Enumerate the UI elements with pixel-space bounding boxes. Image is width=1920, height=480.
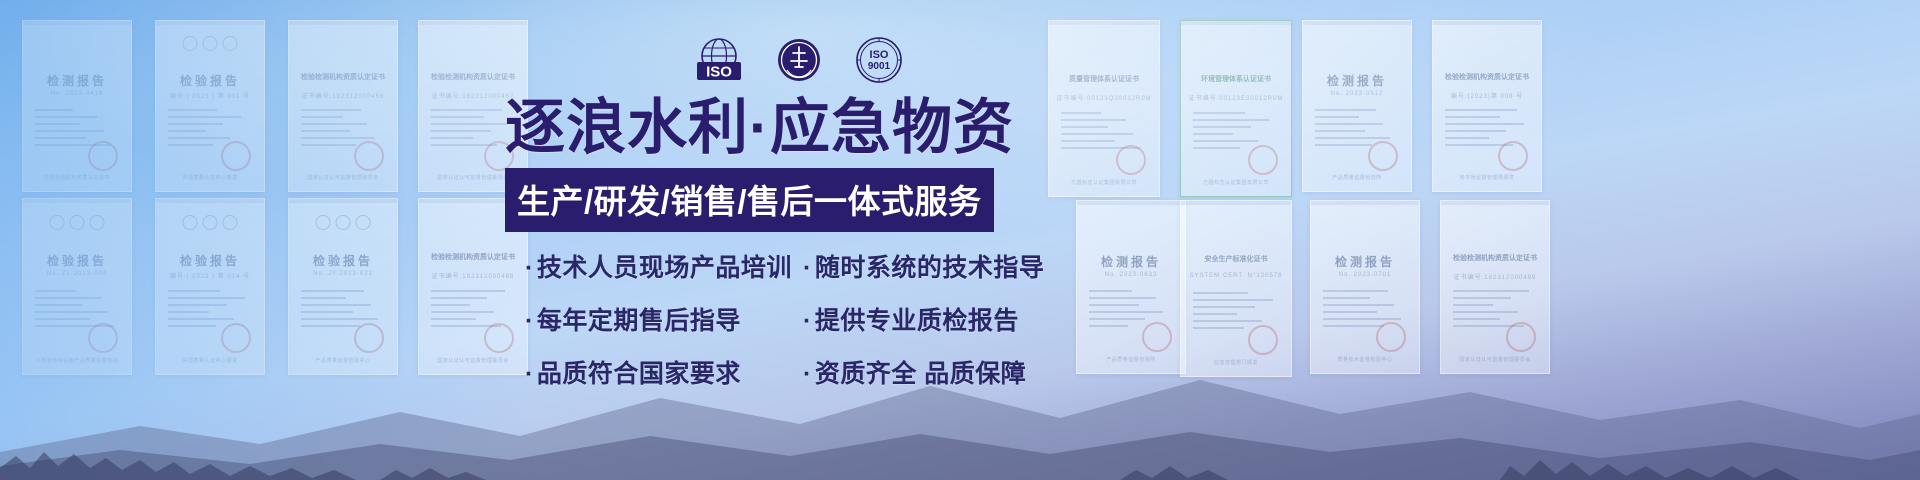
certificate-text-line [168,144,213,146]
certificate-text-line [301,123,368,125]
certificate-title: 检验检测机构资质认定证书 [419,72,527,82]
certificate-title: 检测报告 [1303,72,1411,89]
blue-mark-icon [203,36,218,51]
certificate-text-line [35,290,76,292]
certificate-text-line [1193,292,1248,294]
certificate-logo-row [183,36,238,51]
certificate-text-line [1089,325,1128,327]
feature-item: · 提供专业质检报告 [803,301,1065,337]
certificate-text-line [1445,123,1524,125]
certificate-text-line [301,144,357,146]
certificate-text-line [1453,318,1500,320]
certificate-text-line [1193,313,1237,315]
certificate-text-line [1089,290,1132,292]
feature-label: 资质齐全 品质保障 [815,354,1026,390]
certificate-top-band [23,199,131,203]
certificate-number: 证书编号:182312000499 [1441,272,1549,281]
certificate-top-band [1303,21,1411,25]
iso-badge: ISO [693,34,745,86]
feature-item: · 每年定期售后指导 [525,301,803,337]
svg-text:ISO: ISO [870,49,889,61]
certificate-number: 编号:(2023)第 008 号 [1433,91,1541,100]
certificate-top-band [1049,21,1159,25]
certificate-text-line [431,109,502,111]
certificate-text-line [1315,116,1359,118]
certificate-issuer: 方圆标志认证集团有限公司 [1181,179,1291,186]
certificate-title: 检验报告 [156,72,264,89]
certificate-card: 检验检测机构资质认定证书证书编号:182312000456国家认证认可监督管理委… [288,20,398,192]
certificate-text-line [1193,133,1233,135]
certificate-logo-row [316,215,371,230]
certificate-top-band [1441,201,1549,205]
certificate-top-band [289,199,397,203]
certificate-text-line [1315,123,1383,125]
certificate-title: 环境管理体系认证证书 [1181,74,1291,84]
headline-block: 逐浪水利·应急物资 生产/研发/销售/售后一体式服务 [505,96,1075,232]
certificate-seal-icon [1368,141,1398,171]
certificate-text-line [301,304,371,306]
certificate-text-line [1193,320,1262,322]
certificate-issuer: 省市场监督管理局颁发 [1433,174,1541,181]
bullet-dot: · [525,309,534,334]
certificate-text-line [1453,311,1518,313]
certificate-text-line [1193,126,1251,128]
certificate-number: 编号:( 2023 ) 第 014 号 [156,271,264,280]
certificate-seal-icon [221,141,251,171]
certificate-text-line [168,304,227,306]
feature-label: 随时系统的技术指导 [815,248,1045,284]
certificate-text-line [1445,130,1507,132]
certificate-text-line [431,311,494,313]
certificate-seal-icon [1116,145,1146,175]
certificate-text-line [301,318,378,320]
certificate-top-band [1311,201,1419,205]
certificate-number: No. 2023-0633 [1077,272,1185,278]
certificate-seal-icon [88,141,118,171]
certificate-text-line [168,137,230,139]
certificate-title: 质量管理体系认证证书 [1049,74,1159,84]
certificate-text-line [431,123,509,125]
feature-label: 品质符合国家要求 [537,354,741,390]
certificate-top-band [1077,201,1185,205]
certificate-top-band [1433,21,1541,25]
certificate-text-line [168,311,209,313]
certificate-text-line [1323,318,1401,320]
certificate-number: No. ZL-2023-009 [23,271,131,277]
certificate-text-line [1323,304,1395,306]
certificate-text-line [168,123,224,125]
certificate-card: 检测报告No. 2023-0512产品质量监督检验所 [1302,20,1412,192]
quality-badge [773,34,825,86]
certificate-number: SYSTEM CERT. N°120578 [1181,273,1291,279]
certificate-text-line [1193,147,1240,149]
certificate-seal-icon [1498,141,1528,171]
green-mark-icon [90,215,105,230]
certificate-text-line [168,318,234,320]
certificate-text-line [431,116,484,118]
certificate-text-line [35,318,90,320]
subtitle-text: 生产/研发/销售/售后一体式服务 [517,183,982,220]
certificate-issuer: 产品质量监督检验所 [1303,174,1411,181]
certificate-text-line [301,116,343,118]
certificate-text-line [168,297,245,299]
certificate-card: 检测报告No. 2023-0418检验检测机构资质认定证书 [22,20,132,192]
certificate-text-line [301,297,346,299]
certificate-text-line [35,304,83,306]
certificate-text-line [1089,304,1139,306]
certificate-text-line [431,290,505,292]
svg-text:9001: 9001 [868,61,891,72]
feature-item: · 随时系统的技术指导 [803,248,1065,284]
feature-item: · 品质符合国家要求 [525,354,803,390]
certificate-text-line [301,130,350,132]
bullet-dot: · [525,256,534,281]
certificate-text-line [1089,311,1163,313]
bullet-dot: · [525,362,534,387]
certificate-text-line [1193,119,1269,121]
certificate-number: 证书编号:00123E30012R0M [1181,93,1291,102]
certificate-title: 检测报告 [23,72,131,89]
certificate-text-line [168,325,216,327]
certificate-title: 检验检测机构资质认定证书 [1441,253,1549,263]
certificate-text-line [1453,290,1529,292]
certificate-text-line [35,311,107,313]
certificate-text-line [1445,137,1489,139]
certificate-title: 安全生产标准化证书 [1181,254,1291,264]
certificate-top-band [23,21,131,25]
blue-mark-icon [203,215,218,230]
certificate-text-line [1193,299,1273,301]
certificate-issuer: 检验检测机构资质认定证书 [23,174,131,181]
certificate-number: No. 2023-0701 [1311,272,1419,278]
certificate-card: 检验检测机构资质认定证书编号:(2023)第 008 号省市场监督管理局颁发 [1432,20,1542,192]
certificate-text-line [35,297,101,299]
certificate-text-line [431,130,491,132]
certificate-title: 检测报告 [1077,253,1185,270]
certificate-text-line [1315,130,1366,132]
feature-item: · 资质齐全 品质保障 [803,354,1065,390]
certificate-text-line [1453,304,1493,306]
certificate-text-line [1193,140,1258,142]
certificate-title: 检验检测机构资质认定证书 [1433,72,1541,82]
certificate-number: 编号:( 2023 ) 第 001 号 [156,91,264,100]
green-mark-icon [223,36,238,51]
feature-label: 提供专业质检报告 [815,301,1019,337]
certificate-logo-row [50,215,105,230]
certificate-text-line [1445,109,1517,111]
certificate-text-line [1193,327,1244,329]
certificate-text-line [1323,297,1370,299]
certificate-text-line [168,290,220,292]
certificate-text-line [301,137,374,139]
certificate-text-line [431,304,470,306]
certificate-text-line [168,130,206,132]
certificate-issuer: 国家认证认可监督管理委员会 [289,174,397,181]
certificate-top-band [1181,201,1291,205]
certification-badges: ISO ISO 9001 [693,34,905,86]
certificate-text-line [431,318,476,320]
svg-text:ISO: ISO [706,64,732,81]
certificate-text-line [1193,112,1244,114]
certificate-text-line [35,130,104,132]
certificate-title: 检验报告 [156,252,264,269]
certificate-top-band [419,21,527,25]
certificate-number: No. 2023-0418 [23,91,131,97]
certificate-card: 环境管理体系认证证书证书编号:00123E30012R0M方圆标志认证集团有限公… [1180,20,1292,197]
certificate-text-line [35,116,97,118]
green-mark-icon [223,215,238,230]
bullet-dot: · [803,256,812,281]
certificate-card: 检验报告编号:( 2023 ) 第 001 号中国质量认证中心颁发 [155,20,265,192]
certificate-text-line [431,297,487,299]
certificate-number: No. JY-2023-021 [289,271,397,277]
certificate-text-line [1315,109,1377,111]
certificate-text-line [301,109,361,111]
promotional-banner: 检测报告No. 2023-0418检验检测机构资质认定证书检验报告编号:( 20… [0,0,1920,480]
certificate-top-band [1181,21,1291,25]
certificate-text-line [1323,325,1384,327]
certificate-text-line [1323,311,1377,313]
iso9001-badge: ISO 9001 [853,34,905,86]
certificate-seal-icon [1248,145,1278,175]
certificate-text-line [301,325,360,327]
feature-list: · 技术人员现场产品培训 · 随时系统的技术指导 · 每年定期售后指导 · 提供… [525,248,1065,390]
certificate-number: 证书编号:182312000456 [289,91,397,100]
certificate-number: 证书编号:182312000488 [419,271,527,280]
certificate-text-line [1445,116,1500,118]
certificate-text-line [1323,290,1388,292]
certificate-text-line [1089,297,1156,299]
ccc-mark-icon [50,215,65,230]
ccc-mark-icon [183,36,198,51]
certificate-top-band [156,199,264,203]
bullet-dot: · [803,309,812,334]
certificate-text-line [431,137,473,139]
green-mark-icon [356,215,371,230]
feature-item: · 技术人员现场产品培训 [525,248,803,284]
certificate-text-line [1089,318,1145,320]
certificate-text-line [35,109,73,111]
certificate-logo-row [183,215,238,230]
ccc-mark-icon [316,215,331,230]
certificate-number: No. 2023-0512 [1303,91,1411,97]
certificate-text-line [35,123,80,125]
certificate-text-line [301,290,364,292]
certificate-text-line [168,109,217,111]
certificate-text-line [1453,297,1511,299]
certificate-title: 检测报告 [1311,253,1419,270]
certificate-seal-icon [354,141,384,171]
certificate-title: 检验报告 [23,252,131,269]
certificate-text-line [35,137,86,139]
certificate-top-band [289,21,397,25]
certificate-title: 检验检测机构资质认定证书 [419,252,527,262]
certificate-title: 检验报告 [289,252,397,269]
blue-mark-icon [336,215,351,230]
feature-label: 技术人员现场产品培训 [537,248,792,284]
blue-mark-icon [70,215,85,230]
ccc-mark-icon [183,215,198,230]
feature-label: 每年定期售后指导 [537,301,741,337]
banner-title: 逐浪水利·应急物资 [505,96,1075,160]
certificate-title: 检验检测机构资质认定证书 [289,72,397,82]
certificate-issuer: 中国质量认证中心颁发 [156,174,264,181]
certificate-top-band [156,21,264,25]
certificate-text-line [301,311,353,313]
certificate-text-line [1193,306,1255,308]
subtitle-bar: 生产/研发/销售/售后一体式服务 [505,168,994,232]
certificate-text-line [1315,137,1390,139]
certificate-text-line [1315,144,1372,146]
bullet-dot: · [803,362,812,387]
certificate-text-line [168,116,241,118]
